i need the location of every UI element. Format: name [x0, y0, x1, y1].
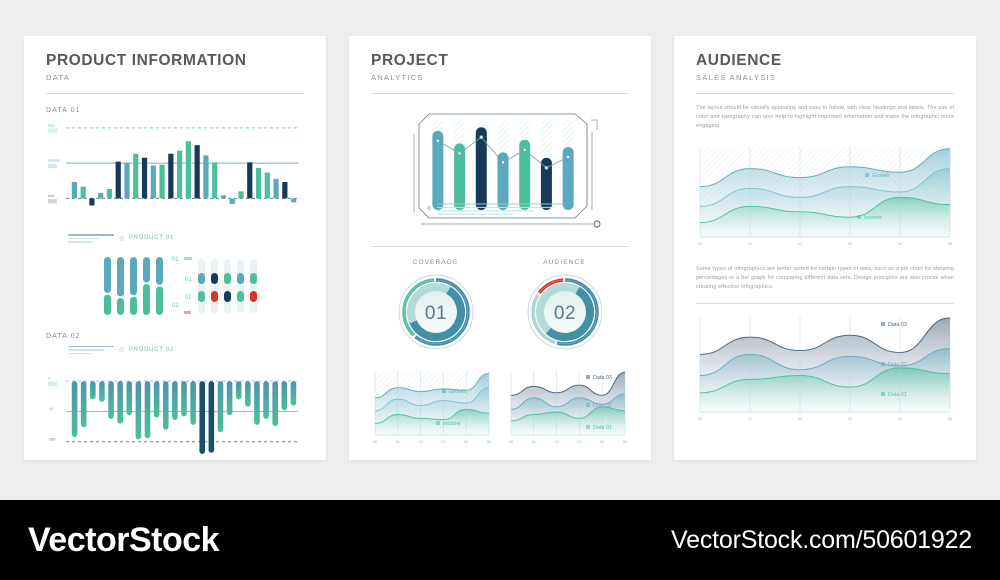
svg-text:01: 01 — [748, 417, 752, 421]
divider — [46, 93, 304, 94]
chart-data-01-bars: maxmiddlemin — [46, 120, 304, 232]
svg-text:Growth: Growth — [449, 389, 466, 395]
donut-chart-audience: 02 — [524, 271, 606, 353]
svg-text:05: 05 — [948, 242, 952, 246]
svg-text:02: 02 — [798, 242, 802, 246]
svg-text:Data 03: Data 03 — [593, 375, 612, 381]
donut-label: COVERAGE — [395, 259, 477, 266]
svg-text:02: 02 — [418, 440, 422, 444]
svg-text:04: 04 — [600, 440, 604, 444]
chart-data-02-bars: 0-50-100 — [46, 356, 304, 468]
svg-text:05: 05 — [948, 417, 952, 421]
page-subtitle-mid: ANALYTICS — [371, 73, 629, 82]
page-title-mid: PROJECT — [371, 52, 629, 69]
svg-text:01: 01 — [185, 277, 192, 283]
divider — [696, 303, 954, 304]
divider — [371, 93, 629, 94]
svg-text:00: 00 — [373, 440, 377, 444]
legend-label: PRODUCT 02 — [129, 347, 174, 353]
svg-text:02: 02 — [798, 417, 802, 421]
chart-data-layers-area: 000102030405Data 03Data 02Data 01 — [696, 312, 954, 424]
chart-pill-groups: 01020102 — [46, 251, 304, 329]
page-subtitle-left: DATA — [46, 73, 304, 82]
legend-label: PRODUCT 01 — [129, 235, 174, 241]
svg-text:02: 02 — [185, 295, 192, 301]
svg-text:-50: -50 — [48, 407, 53, 411]
svg-text:0: 0 — [48, 377, 50, 381]
paragraph-intro: The layout should be visually appealing … — [696, 104, 954, 131]
legend-product-02: PRODUCT 02 — [68, 346, 304, 355]
chart-project-hero-bars — [371, 102, 629, 242]
svg-text:Data 02: Data 02 — [593, 403, 612, 409]
donut-block-coverage: COVERAGE 01 — [395, 259, 477, 353]
paragraph-types: Some types of infographics are better su… — [696, 265, 954, 292]
section-label-data-02: DATA 02 — [46, 333, 304, 340]
svg-text:01: 01 — [424, 303, 446, 324]
donut-label: AUDIENCE — [524, 259, 606, 266]
svg-text:01: 01 — [396, 440, 400, 444]
svg-text:01: 01 — [532, 440, 536, 444]
svg-text:Income: Income — [864, 215, 882, 221]
legend-chip-icon — [119, 347, 124, 352]
page-subtitle-right: SALES ANALYSIS — [696, 73, 954, 82]
svg-text:Data 01: Data 01 — [888, 392, 907, 398]
svg-text:min: min — [48, 194, 54, 198]
svg-text:05: 05 — [487, 440, 491, 444]
svg-text:-100: -100 — [48, 437, 55, 441]
svg-text:middle: middle — [48, 159, 60, 163]
svg-text:01: 01 — [748, 242, 752, 246]
svg-text:02: 02 — [553, 303, 575, 324]
svg-text:Data 01: Data 01 — [593, 425, 612, 431]
svg-text:Income: Income — [443, 421, 461, 427]
page-title-left: PRODUCT INFORMATION — [46, 52, 304, 69]
panel-project-analytics: PROJECT ANALYTICS COVERAGE 01 AUDIENCE 0… — [349, 36, 651, 460]
legend-chip-icon — [119, 236, 124, 241]
section-label-data-01: DATA 01 — [46, 107, 304, 114]
svg-text:Growth: Growth — [872, 173, 889, 179]
svg-text:01: 01 — [172, 257, 179, 263]
svg-text:05: 05 — [623, 440, 627, 444]
svg-text:00: 00 — [698, 417, 702, 421]
watermark-footer: VectorStock VectorStock.com/50601922 — [0, 500, 1000, 580]
svg-text:Data 03: Data 03 — [888, 322, 907, 328]
infographic-canvas: PRODUCT INFORMATION DATA DATA 01 maxmidd… — [0, 0, 1000, 580]
chart-data-layers-area: 000102030405Data 03Data 02Data 01 — [507, 367, 629, 447]
chart-growth-income-area: 000102030405GrowthIncome — [371, 367, 493, 447]
svg-text:04: 04 — [898, 417, 902, 421]
panel-audience: AUDIENCE SALES ANALYSIS The layout shoul… — [674, 36, 976, 460]
divider — [696, 93, 954, 94]
divider — [371, 246, 629, 247]
chart-growth-income-area: 000102030405GrowthIncome — [696, 143, 954, 249]
stock-url: VectorStock.com/50601922 — [671, 526, 972, 555]
brand-wordmark: VectorStock — [28, 521, 219, 560]
donut-block-audience: AUDIENCE 02 — [524, 259, 606, 353]
svg-text:00: 00 — [698, 242, 702, 246]
svg-text:03: 03 — [441, 440, 445, 444]
svg-text:Data 02: Data 02 — [888, 362, 907, 368]
svg-text:04: 04 — [464, 440, 468, 444]
svg-text:00: 00 — [509, 440, 513, 444]
svg-text:max: max — [48, 123, 55, 127]
svg-text:03: 03 — [848, 417, 852, 421]
svg-text:03: 03 — [577, 440, 581, 444]
donut-chart-coverage: 01 — [395, 271, 477, 353]
page-title-right: AUDIENCE — [696, 52, 954, 69]
legend-product-01: PRODUCT 01 — [68, 234, 304, 243]
svg-text:02: 02 — [172, 303, 179, 309]
svg-text:04: 04 — [898, 242, 902, 246]
panel-product-information: PRODUCT INFORMATION DATA DATA 01 maxmidd… — [24, 36, 326, 460]
svg-text:02: 02 — [554, 440, 558, 444]
svg-text:03: 03 — [848, 242, 852, 246]
